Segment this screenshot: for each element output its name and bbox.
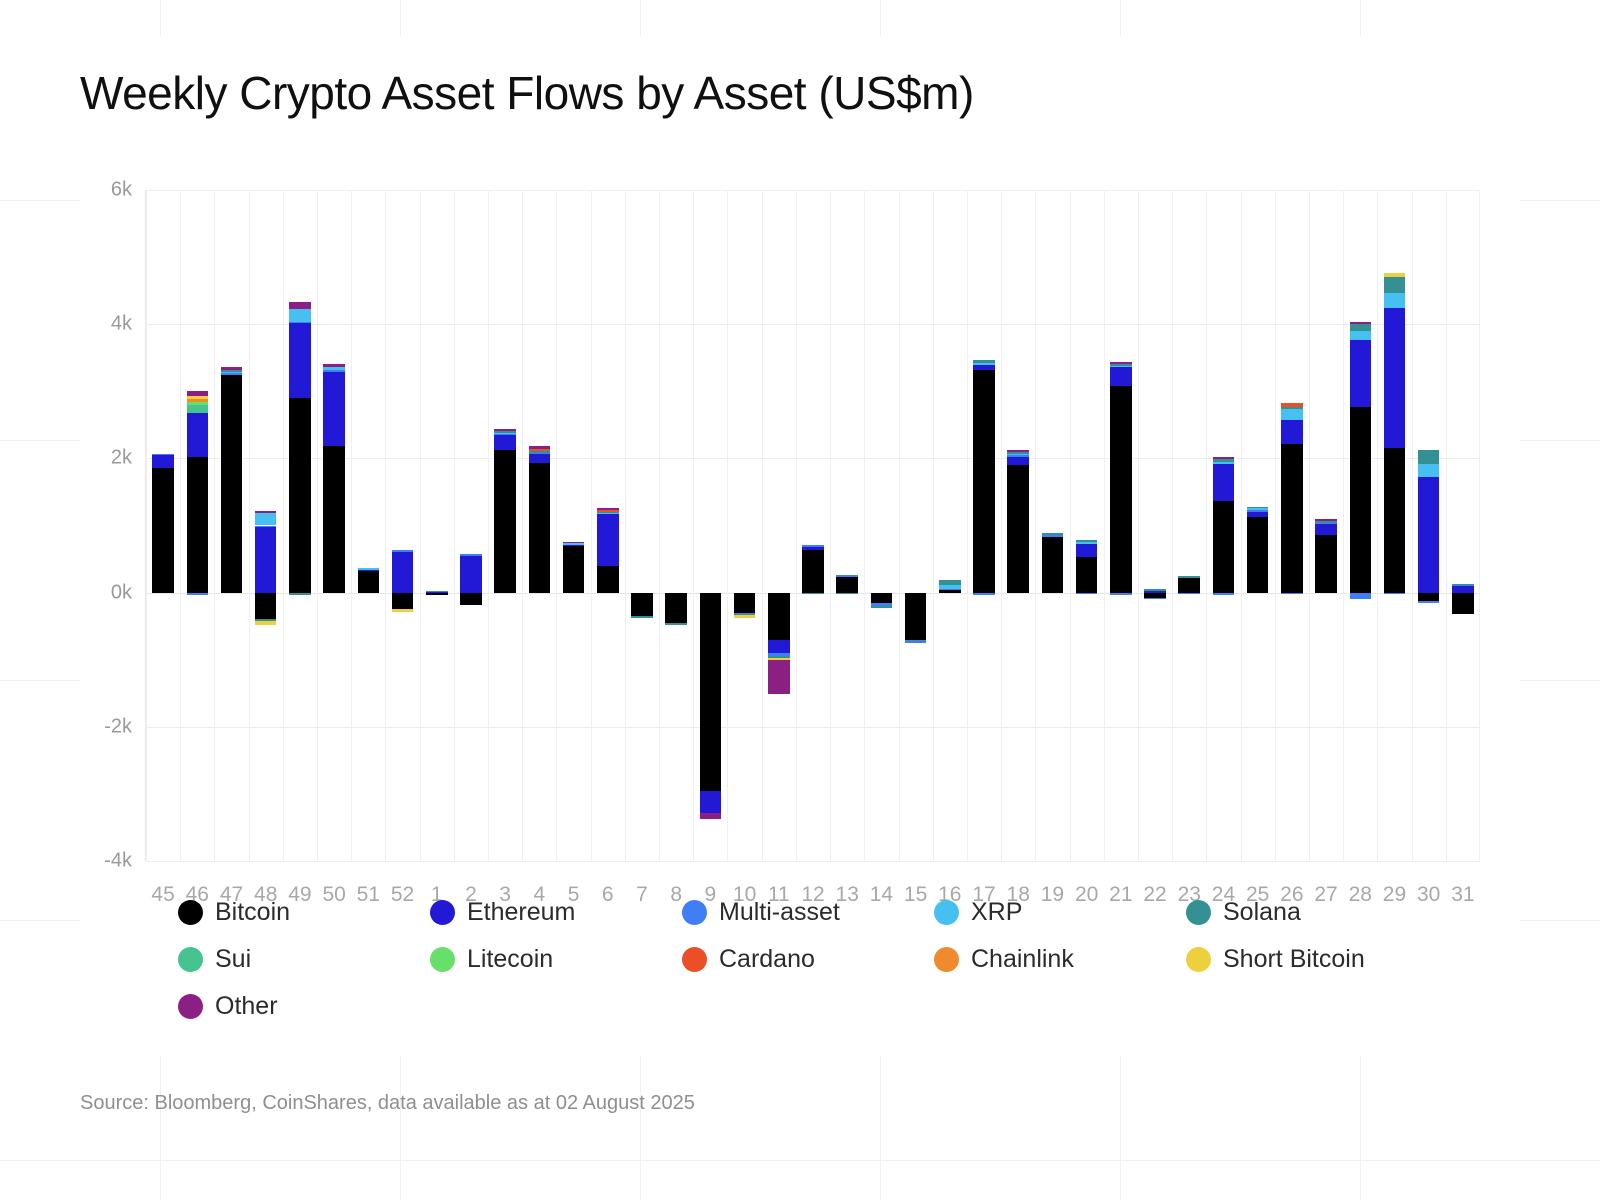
x-gridline — [1412, 190, 1413, 861]
x-gridline — [1070, 190, 1071, 861]
bar-segment — [529, 463, 551, 593]
bar-segment — [1418, 601, 1440, 603]
bar-segment — [187, 593, 209, 595]
bar-segment — [905, 642, 927, 644]
bar-segment — [1007, 452, 1029, 454]
x-gridline — [1206, 190, 1207, 861]
bar-segment — [1213, 501, 1235, 592]
bar-segment — [905, 593, 927, 640]
bar-segment — [563, 543, 585, 545]
bar-segment — [1281, 593, 1303, 595]
bar-column[interactable] — [494, 190, 516, 861]
bar-segment — [939, 580, 961, 585]
bar-segment — [221, 373, 243, 375]
x-gridline — [1138, 190, 1139, 861]
bar-segment — [460, 593, 482, 606]
bar-segment — [529, 453, 551, 463]
bar-segment — [1213, 462, 1235, 465]
x-gridline — [625, 190, 626, 861]
x-gridline — [796, 190, 797, 861]
legend-item-ethereum[interactable]: Ethereum — [430, 898, 682, 927]
chart-legend: BitcoinEthereumMulti-assetXRPSolanaSuiLi… — [178, 898, 1438, 1021]
x-axis-tick-label: 45 — [151, 883, 174, 907]
x-gridline — [1172, 190, 1173, 861]
bar-segment — [836, 577, 858, 592]
x-gridline — [1104, 190, 1105, 861]
bar-segment — [392, 550, 414, 552]
x-gridline — [864, 190, 865, 861]
x-gridline — [249, 190, 250, 861]
bar-column[interactable] — [1042, 190, 1064, 861]
bar-segment — [494, 435, 516, 450]
bar-segment — [255, 593, 277, 620]
bar-segment — [597, 511, 619, 513]
bar-column[interactable] — [289, 190, 311, 861]
x-gridline — [1275, 190, 1276, 861]
x-gridline — [899, 190, 900, 861]
bar-segment — [973, 370, 995, 592]
bar-segment — [1178, 577, 1200, 592]
bar-segment — [1384, 273, 1406, 277]
bar-segment — [939, 585, 961, 589]
x-gridline — [830, 190, 831, 861]
x-gridline — [1309, 190, 1310, 861]
bar-segment — [1452, 593, 1474, 614]
bar-segment — [152, 454, 174, 456]
bar-segment — [187, 405, 209, 414]
bar-column[interactable] — [529, 190, 551, 861]
bar-segment — [768, 660, 790, 694]
bar-segment — [1110, 386, 1132, 593]
bar-segment — [768, 640, 790, 653]
bar-segment — [1247, 510, 1269, 512]
bar-column[interactable] — [905, 190, 927, 861]
bar-segment — [221, 370, 243, 372]
legend-item-short-bitcoin[interactable]: Short Bitcoin — [1186, 945, 1438, 974]
y-axis-tick-label: 0k — [111, 581, 132, 604]
bar-segment — [289, 323, 311, 398]
bar-segment — [563, 546, 585, 592]
bar-segment — [1076, 542, 1098, 544]
bar-segment — [1418, 477, 1440, 592]
bar-segment — [1384, 293, 1406, 308]
bar-segment — [1213, 459, 1235, 462]
bar-column[interactable] — [700, 190, 722, 861]
bar-segment — [494, 434, 516, 436]
bar-segment — [1281, 420, 1303, 444]
x-gridline — [283, 190, 284, 861]
x-gridline — [1001, 190, 1002, 861]
y-axis-tick-label: -2k — [104, 715, 132, 738]
bar-segment — [1350, 324, 1372, 331]
bar-column[interactable] — [939, 190, 961, 861]
bar-segment — [1350, 407, 1372, 592]
bar-segment — [289, 302, 311, 309]
chart-card: Weekly Crypto Asset Flows by Asset (US$m… — [80, 36, 1520, 1056]
bar-segment — [1350, 331, 1372, 340]
bar-segment — [1418, 464, 1440, 477]
plot-area: 6k4k2k0k-2k-4k45464748495051521234567891… — [145, 190, 1480, 861]
bar-segment — [529, 446, 551, 449]
bar-segment — [187, 399, 209, 402]
bar-segment — [563, 542, 585, 544]
bar-segment — [289, 309, 311, 322]
legend-item-label: Multi-asset — [719, 898, 840, 927]
x-gridline — [591, 190, 592, 861]
x-gridline — [146, 190, 147, 861]
bar-segment — [802, 550, 824, 593]
bar-segment — [255, 621, 277, 624]
bar-column[interactable] — [1315, 190, 1337, 861]
bar-segment — [152, 468, 174, 593]
legend-item-label: Solana — [1223, 898, 1301, 927]
x-gridline — [385, 190, 386, 861]
x-gridline — [693, 190, 694, 861]
legend-item-label: Ethereum — [467, 898, 575, 927]
bar-segment — [1110, 362, 1132, 365]
bar-column[interactable] — [358, 190, 380, 861]
bar-segment — [973, 360, 995, 363]
legend-item-chainlink[interactable]: Chainlink — [934, 945, 1186, 974]
y-gridline — [146, 861, 1480, 862]
source-note: Source: Bloomberg, CoinShares, data avai… — [80, 1092, 695, 1115]
bar-column[interactable] — [187, 190, 209, 861]
bar-segment — [1213, 457, 1235, 459]
bar-segment — [187, 396, 209, 399]
bar-segment — [529, 451, 551, 453]
bar-segment — [1452, 584, 1474, 586]
bar-column[interactable] — [392, 190, 414, 861]
legend-item-xrp[interactable]: XRP — [934, 898, 1186, 927]
bar-segment — [323, 367, 345, 370]
bar-segment — [494, 433, 516, 435]
legend-dot-solana — [1186, 900, 1211, 925]
bar-column[interactable] — [1076, 190, 1098, 861]
legend-item-label: Other — [215, 992, 278, 1021]
bar-segment — [221, 372, 243, 374]
bar-segment — [323, 364, 345, 367]
legend-dot-litecoin — [430, 947, 455, 972]
bar-segment — [255, 526, 277, 592]
bar-column[interactable] — [1384, 190, 1406, 861]
x-gridline — [1241, 190, 1242, 861]
x-gridline — [1035, 190, 1036, 861]
bar-segment — [323, 446, 345, 592]
bar-segment — [323, 372, 345, 446]
bar-segment — [255, 511, 277, 513]
bar-segment — [836, 593, 858, 595]
bar-segment — [973, 593, 995, 595]
bar-segment — [1315, 519, 1337, 521]
bar-segment — [1384, 448, 1406, 592]
bar-column[interactable] — [665, 190, 687, 861]
bar-segment — [460, 554, 482, 556]
bar-column[interactable] — [426, 190, 448, 861]
x-gridline — [1479, 190, 1480, 861]
legend-dot-xrp — [934, 900, 959, 925]
bar-column[interactable] — [1350, 190, 1372, 861]
bar-segment — [1110, 366, 1132, 385]
bar-column[interactable] — [597, 190, 619, 861]
legend-item-label: Chainlink — [971, 945, 1074, 974]
bar-segment — [1247, 508, 1269, 510]
bar-column[interactable] — [871, 190, 893, 861]
x-gridline — [1377, 190, 1378, 861]
bar-segment — [1076, 557, 1098, 593]
legend-dot-ethereum — [430, 900, 455, 925]
bar-segment — [1076, 593, 1098, 595]
bar-column[interactable] — [1213, 190, 1235, 861]
y-axis-tick-label: 6k — [111, 179, 132, 202]
bar-segment — [1042, 535, 1064, 537]
bar-column[interactable] — [563, 190, 585, 861]
y-axis-tick-label: -4k — [104, 850, 132, 873]
bar-segment — [1384, 308, 1406, 448]
bar-column[interactable] — [768, 190, 790, 861]
bar-segment — [1281, 407, 1303, 409]
legend-item-multi-asset[interactable]: Multi-asset — [682, 898, 934, 927]
bar-segment — [1007, 465, 1029, 592]
legend-item-label: Litecoin — [467, 945, 553, 974]
bar-segment — [1350, 340, 1372, 408]
bar-segment — [358, 571, 380, 592]
x-gridline — [317, 190, 318, 861]
bar-segment — [1144, 598, 1166, 600]
legend-item-litecoin[interactable]: Litecoin — [430, 945, 682, 974]
bar-segment — [392, 551, 414, 593]
legend-item-solana[interactable]: Solana — [1186, 898, 1438, 927]
bar-segment — [973, 363, 995, 365]
bar-segment — [700, 813, 722, 819]
bar-segment — [187, 457, 209, 593]
bar-segment — [1042, 537, 1064, 593]
x-gridline — [454, 190, 455, 861]
x-gridline — [522, 190, 523, 861]
bar-column[interactable] — [1007, 190, 1029, 861]
bar-segment — [1247, 511, 1269, 517]
bar-segment — [802, 593, 824, 595]
bar-segment — [700, 791, 722, 813]
x-gridline — [762, 190, 763, 861]
y-axis-tick-label: 4k — [111, 313, 132, 336]
bar-segment — [1247, 507, 1269, 509]
bar-segment — [665, 593, 687, 624]
x-gridline — [214, 190, 215, 861]
bar-segment — [1315, 521, 1337, 523]
bar-segment — [871, 593, 893, 603]
bar-segment — [1178, 576, 1200, 578]
legend-item-label: Cardano — [719, 945, 815, 974]
bar-segment — [1076, 540, 1098, 542]
legend-item-cardano[interactable]: Cardano — [682, 945, 934, 974]
legend-dot-sui — [178, 947, 203, 972]
bar-segment — [1213, 464, 1235, 501]
bar-segment — [1247, 517, 1269, 593]
bar-segment — [494, 431, 516, 433]
bar-column[interactable] — [255, 190, 277, 861]
bar-column[interactable] — [734, 190, 756, 861]
bar-column[interactable] — [323, 190, 345, 861]
bar-segment — [1110, 593, 1132, 596]
bar-segment — [768, 593, 790, 640]
bar-segment — [187, 391, 209, 396]
bar-segment — [426, 591, 448, 593]
bar-segment — [734, 615, 756, 618]
bar-segment — [1144, 589, 1166, 591]
bar-segment — [255, 513, 277, 526]
x-gridline — [933, 190, 934, 861]
x-gridline — [659, 190, 660, 861]
bar-segment — [529, 449, 551, 451]
legend-dot-multi-asset — [682, 900, 707, 925]
legend-dot-bitcoin — [178, 900, 203, 925]
bar-column[interactable] — [973, 190, 995, 861]
legend-dot-other — [178, 994, 203, 1019]
legend-item-label: Short Bitcoin — [1223, 945, 1365, 974]
bar-segment — [1281, 403, 1303, 407]
bar-segment — [494, 450, 516, 592]
bar-segment — [836, 575, 858, 577]
bar-segment — [871, 606, 893, 608]
x-gridline — [1446, 190, 1447, 861]
bar-segment — [392, 593, 414, 610]
bar-segment — [1350, 322, 1372, 324]
bar-segment — [939, 589, 961, 591]
bar-column[interactable] — [221, 190, 243, 861]
bar-segment — [289, 322, 311, 324]
bar-segment — [1281, 409, 1303, 420]
bar-segment — [597, 510, 619, 512]
bar-segment — [221, 367, 243, 371]
x-gridline — [967, 190, 968, 861]
bar-column[interactable] — [152, 190, 174, 861]
bar-segment — [1384, 277, 1406, 293]
legend-dot-chainlink — [934, 947, 959, 972]
y-axis-tick-label: 2k — [111, 447, 132, 470]
bar-segment — [152, 455, 174, 468]
bar-segment — [1418, 450, 1440, 464]
bar-segment — [460, 554, 482, 592]
bar-segment — [1418, 593, 1440, 602]
legend-item-bitcoin[interactable]: Bitcoin — [178, 898, 430, 927]
bar-segment — [392, 609, 414, 612]
bar-segment — [734, 593, 756, 613]
x-gridline — [420, 190, 421, 861]
bar-column[interactable] — [836, 190, 858, 861]
x-gridline — [1343, 190, 1344, 861]
bar-column[interactable] — [631, 190, 653, 861]
bar-segment — [631, 593, 653, 616]
legend-item-label: Bitcoin — [215, 898, 290, 927]
x-gridline — [351, 190, 352, 861]
bar-column[interactable] — [460, 190, 482, 861]
bar-column[interactable] — [802, 190, 824, 861]
plot-wrapper: 6k4k2k0k-2k-4k45464748495051521234567891… — [145, 190, 1480, 861]
bar-column[interactable] — [1110, 190, 1132, 861]
bar-segment — [323, 370, 345, 372]
bar-segment — [358, 568, 380, 570]
bar-segment — [1042, 533, 1064, 536]
bar-segment — [1281, 444, 1303, 592]
bar-segment — [289, 593, 311, 595]
bar-column[interactable] — [1178, 190, 1200, 861]
bar-segment — [631, 616, 653, 618]
bar-segment — [802, 545, 824, 547]
chart-title: Weekly Crypto Asset Flows by Asset (US$m… — [80, 66, 974, 120]
bar-segment — [1178, 593, 1200, 595]
x-gridline — [556, 190, 557, 861]
legend-item-other[interactable]: Other — [178, 992, 430, 1021]
bar-segment — [1007, 450, 1029, 453]
bar-segment — [1110, 364, 1132, 366]
bar-segment — [1076, 544, 1098, 557]
bar-column[interactable] — [1247, 190, 1269, 861]
legend-item-label: XRP — [971, 898, 1022, 927]
x-axis-tick-label: 31 — [1451, 883, 1474, 907]
bar-segment — [1213, 593, 1235, 595]
bar-segment — [221, 375, 243, 592]
bar-column[interactable] — [1418, 190, 1440, 861]
bar-segment — [973, 365, 995, 370]
bar-segment — [426, 593, 448, 596]
bar-segment — [255, 526, 277, 528]
bar-segment — [1350, 593, 1372, 599]
bar-segment — [289, 398, 311, 593]
bar-segment — [597, 513, 619, 565]
legend-dot-short-bitcoin — [1186, 947, 1211, 972]
legend-dot-cardano — [682, 947, 707, 972]
legend-item-sui[interactable]: Sui — [178, 945, 430, 974]
bar-segment — [597, 508, 619, 510]
bar-segment — [1007, 456, 1029, 465]
legend-item-label: Sui — [215, 945, 251, 974]
bar-column[interactable] — [1452, 190, 1474, 861]
bar-segment — [1315, 523, 1337, 535]
bar-segment — [1315, 535, 1337, 593]
x-gridline — [727, 190, 728, 861]
bar-segment — [494, 429, 516, 431]
bar-segment — [700, 593, 722, 792]
bar-segment — [1007, 455, 1029, 457]
bar-column[interactable] — [1144, 190, 1166, 861]
bar-segment — [1384, 593, 1406, 595]
bar-segment — [597, 566, 619, 593]
bar-segment — [665, 623, 687, 625]
x-gridline — [488, 190, 489, 861]
bar-segment — [187, 402, 209, 405]
bar-segment — [187, 413, 209, 457]
x-gridline — [180, 190, 181, 861]
bar-column[interactable] — [1281, 190, 1303, 861]
